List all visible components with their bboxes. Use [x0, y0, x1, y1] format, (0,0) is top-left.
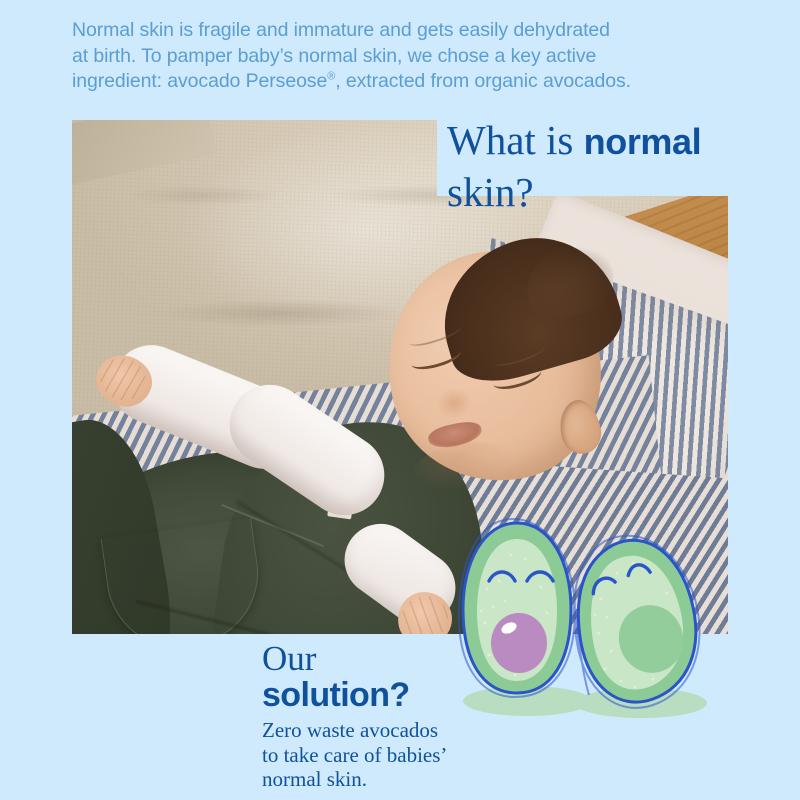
- baby-fingers-right: [402, 596, 448, 634]
- solution-word-our: Our: [262, 642, 410, 676]
- solution-title: Our solution?: [262, 642, 410, 714]
- solution-caption: Zero waste avocados to take care of babi…: [262, 718, 512, 792]
- solution-caption-line-3: normal skin.: [262, 767, 367, 791]
- avocado-left-pit: [491, 613, 547, 673]
- heading-part-skin: skin?: [447, 169, 534, 215]
- intro-line-2: at birth. To pamper baby’s normal skin, …: [72, 45, 596, 67]
- sleep-sack-pocket: [101, 518, 268, 634]
- page-title: What is normalskin?: [447, 119, 787, 223]
- intro-line-3-before: ingredient: avocado Perseose: [72, 70, 327, 92]
- intro-line-3-after: , extracted from organic avocados.: [335, 70, 631, 92]
- heading-part-normal: normal: [584, 121, 702, 162]
- intro-line-3: ingredient: avocado Perseose®, extracted…: [72, 70, 631, 92]
- heading-part-what-is: What is: [447, 117, 584, 163]
- avocado-illustration: [455, 515, 725, 745]
- solution-caption-line-1: Zero waste avocados: [262, 718, 438, 742]
- solution-caption-line-2: to take care of babies’: [262, 743, 447, 767]
- intro-line-1: Normal skin is fragile and immature and …: [72, 19, 610, 41]
- solution-word-solution: solution?: [262, 676, 410, 714]
- avocado-left: [463, 523, 571, 693]
- intro-paragraph: Normal skin is fragile and immature and …: [72, 18, 712, 95]
- poster-canvas: Normal skin is fragile and immature and …: [0, 0, 800, 800]
